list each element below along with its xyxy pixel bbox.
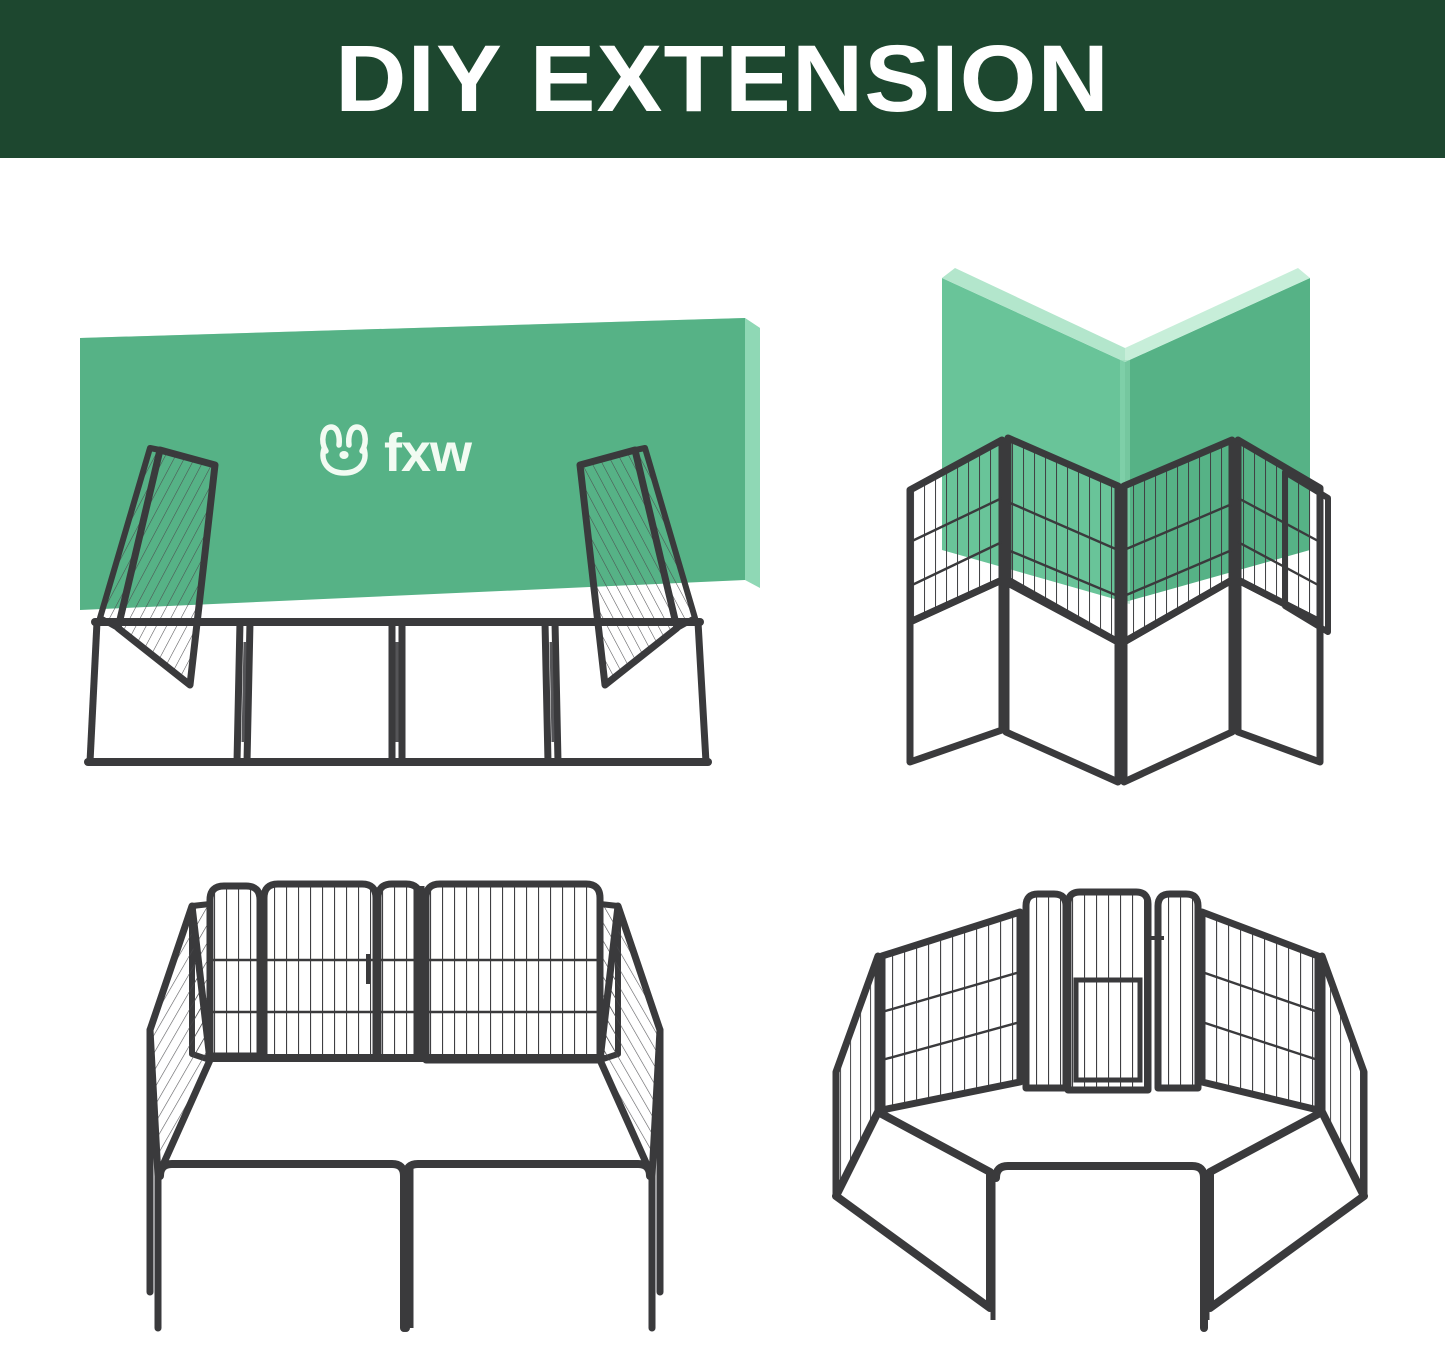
octagon-panel-front-right [1210,1112,1364,1308]
octagon-gate-panel[interactable] [1068,892,1164,1090]
brand-wordmark: fxw [384,423,473,483]
figure-playpen-in-wall-corner [880,250,1350,790]
pen-side-panel-left [150,904,210,1176]
octagon-panel-back-center-left [1026,894,1066,1088]
header-banner: DIY EXTENSION [0,0,1445,158]
octagon-panel-front-left [836,1112,990,1308]
figure-playpen-against-straight-wall: fxw [40,250,760,790]
page-title: DIY EXTENSION [335,32,1110,127]
infographic-page: DIY EXTENSION [0,0,1445,1350]
figure-playpen-octagon [820,860,1380,1330]
octagon-panel-back-left [882,912,1020,1110]
pen-side-panel-right [600,904,660,1176]
pen-back-panel-4 [426,884,600,1060]
octagon-panel-back-right [1202,912,1318,1110]
octagon-panel-back-center-right [1158,894,1198,1088]
pen-panel-left-wing-a [910,440,1002,622]
pen-back-panel-2 [264,884,376,1058]
figure-playpen-rectangle [130,860,690,1330]
octagon-front-hinges [993,1172,1207,1320]
octagon-panel-front-center [996,1166,1204,1328]
pen-back-panel-1 [210,886,260,1056]
